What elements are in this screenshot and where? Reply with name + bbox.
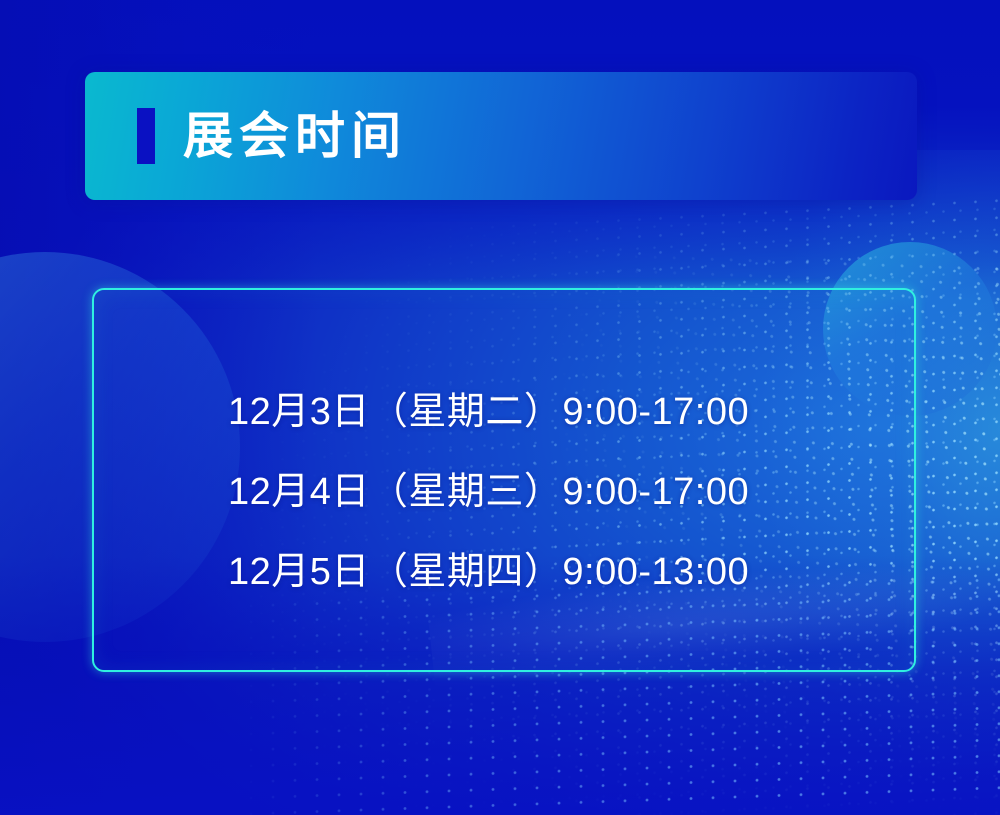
schedule-line-2: 12月4日（星期三）9:00-17:00 (228, 452, 788, 532)
schedule-line-3: 12月5日（星期四）9:00-13:00 (228, 532, 788, 612)
schedule-list: 12月3日（星期二）9:00-17:00 12月4日（星期三）9:00-17:0… (228, 372, 788, 612)
poster-root: 展会时间 12月3日（星期二）9:00-17:00 12月4日（星期三）9:00… (0, 0, 1000, 815)
title-accent-bar (137, 108, 155, 164)
page-title: 展会时间 (183, 111, 407, 161)
header-banner: 展会时间 (85, 72, 917, 200)
schedule-line-1: 12月3日（星期二）9:00-17:00 (228, 372, 788, 452)
